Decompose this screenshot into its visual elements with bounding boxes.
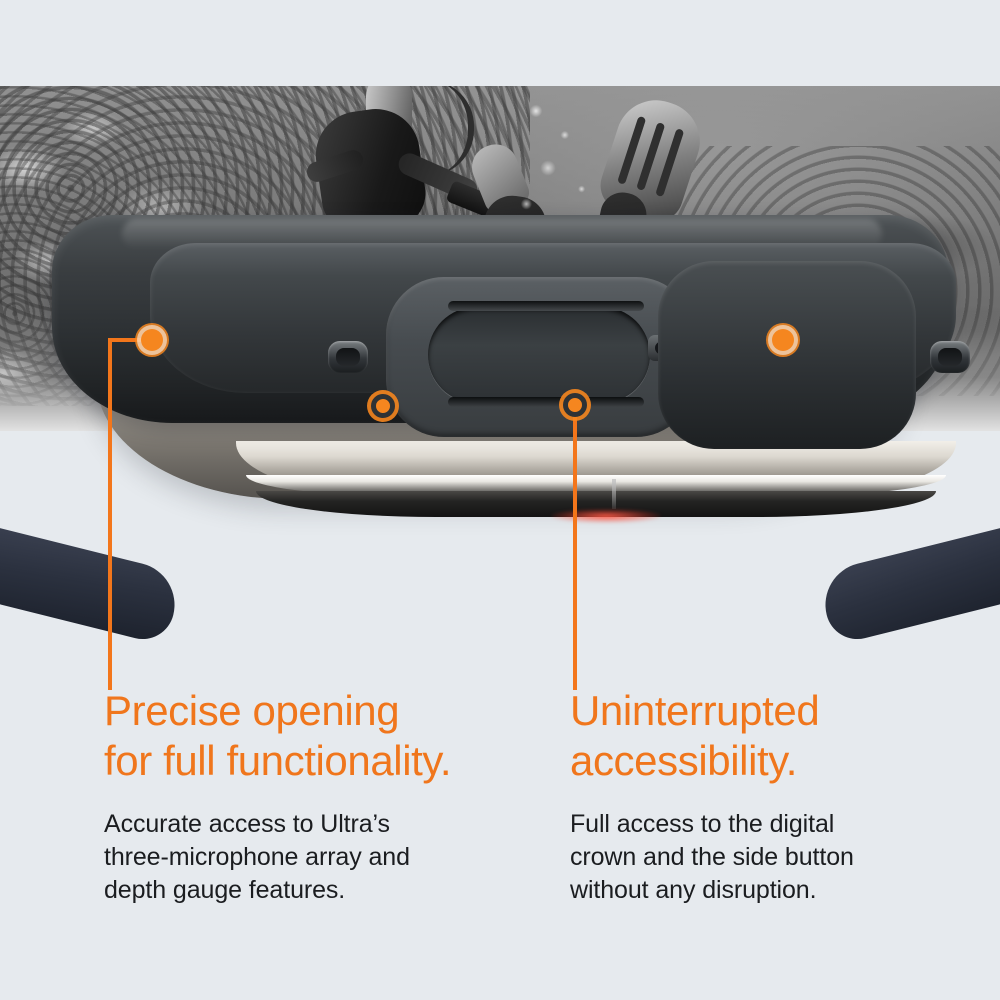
protective-bumper-case xyxy=(52,215,948,423)
crown-guard xyxy=(658,261,916,449)
band-strap xyxy=(0,518,184,645)
speaker-slot-top xyxy=(448,301,644,311)
case-inner-lip xyxy=(150,243,956,393)
depth-gauge-marker-dot xyxy=(371,394,395,418)
feature-headline: Uninterrupted accessibility. xyxy=(570,686,970,786)
side-button-marker-dot xyxy=(772,329,794,351)
callout-line-left-vertical xyxy=(108,338,112,690)
feature-body: Accurate access to Ultra’s three-microph… xyxy=(104,808,534,907)
digital-crown-marker-dot xyxy=(563,393,587,417)
microphone-marker-dot xyxy=(141,329,163,351)
heart-sensor-glow xyxy=(551,509,661,523)
watch-band-left xyxy=(0,545,190,665)
case-port-right xyxy=(930,341,970,373)
band-strap xyxy=(816,518,1000,645)
callout-line-right-vertical xyxy=(573,405,577,690)
case-port-left xyxy=(328,341,368,373)
glass-seam xyxy=(612,479,616,509)
feature-block-precise-opening: Precise opening for full functionality. … xyxy=(104,686,534,907)
product-photo xyxy=(0,215,1000,535)
marketing-image: Precise opening for full functionality. … xyxy=(0,0,1000,1000)
feature-block-uninterrupted-accessibility: Uninterrupted accessibility. Full access… xyxy=(570,686,970,907)
feature-headline: Precise opening for full functionality. xyxy=(104,686,534,786)
watch-band-right xyxy=(810,545,1000,665)
microphone-opening xyxy=(428,307,650,403)
speaker-slot-bottom xyxy=(448,397,644,407)
feature-body: Full access to the digital crown and the… xyxy=(570,808,970,907)
